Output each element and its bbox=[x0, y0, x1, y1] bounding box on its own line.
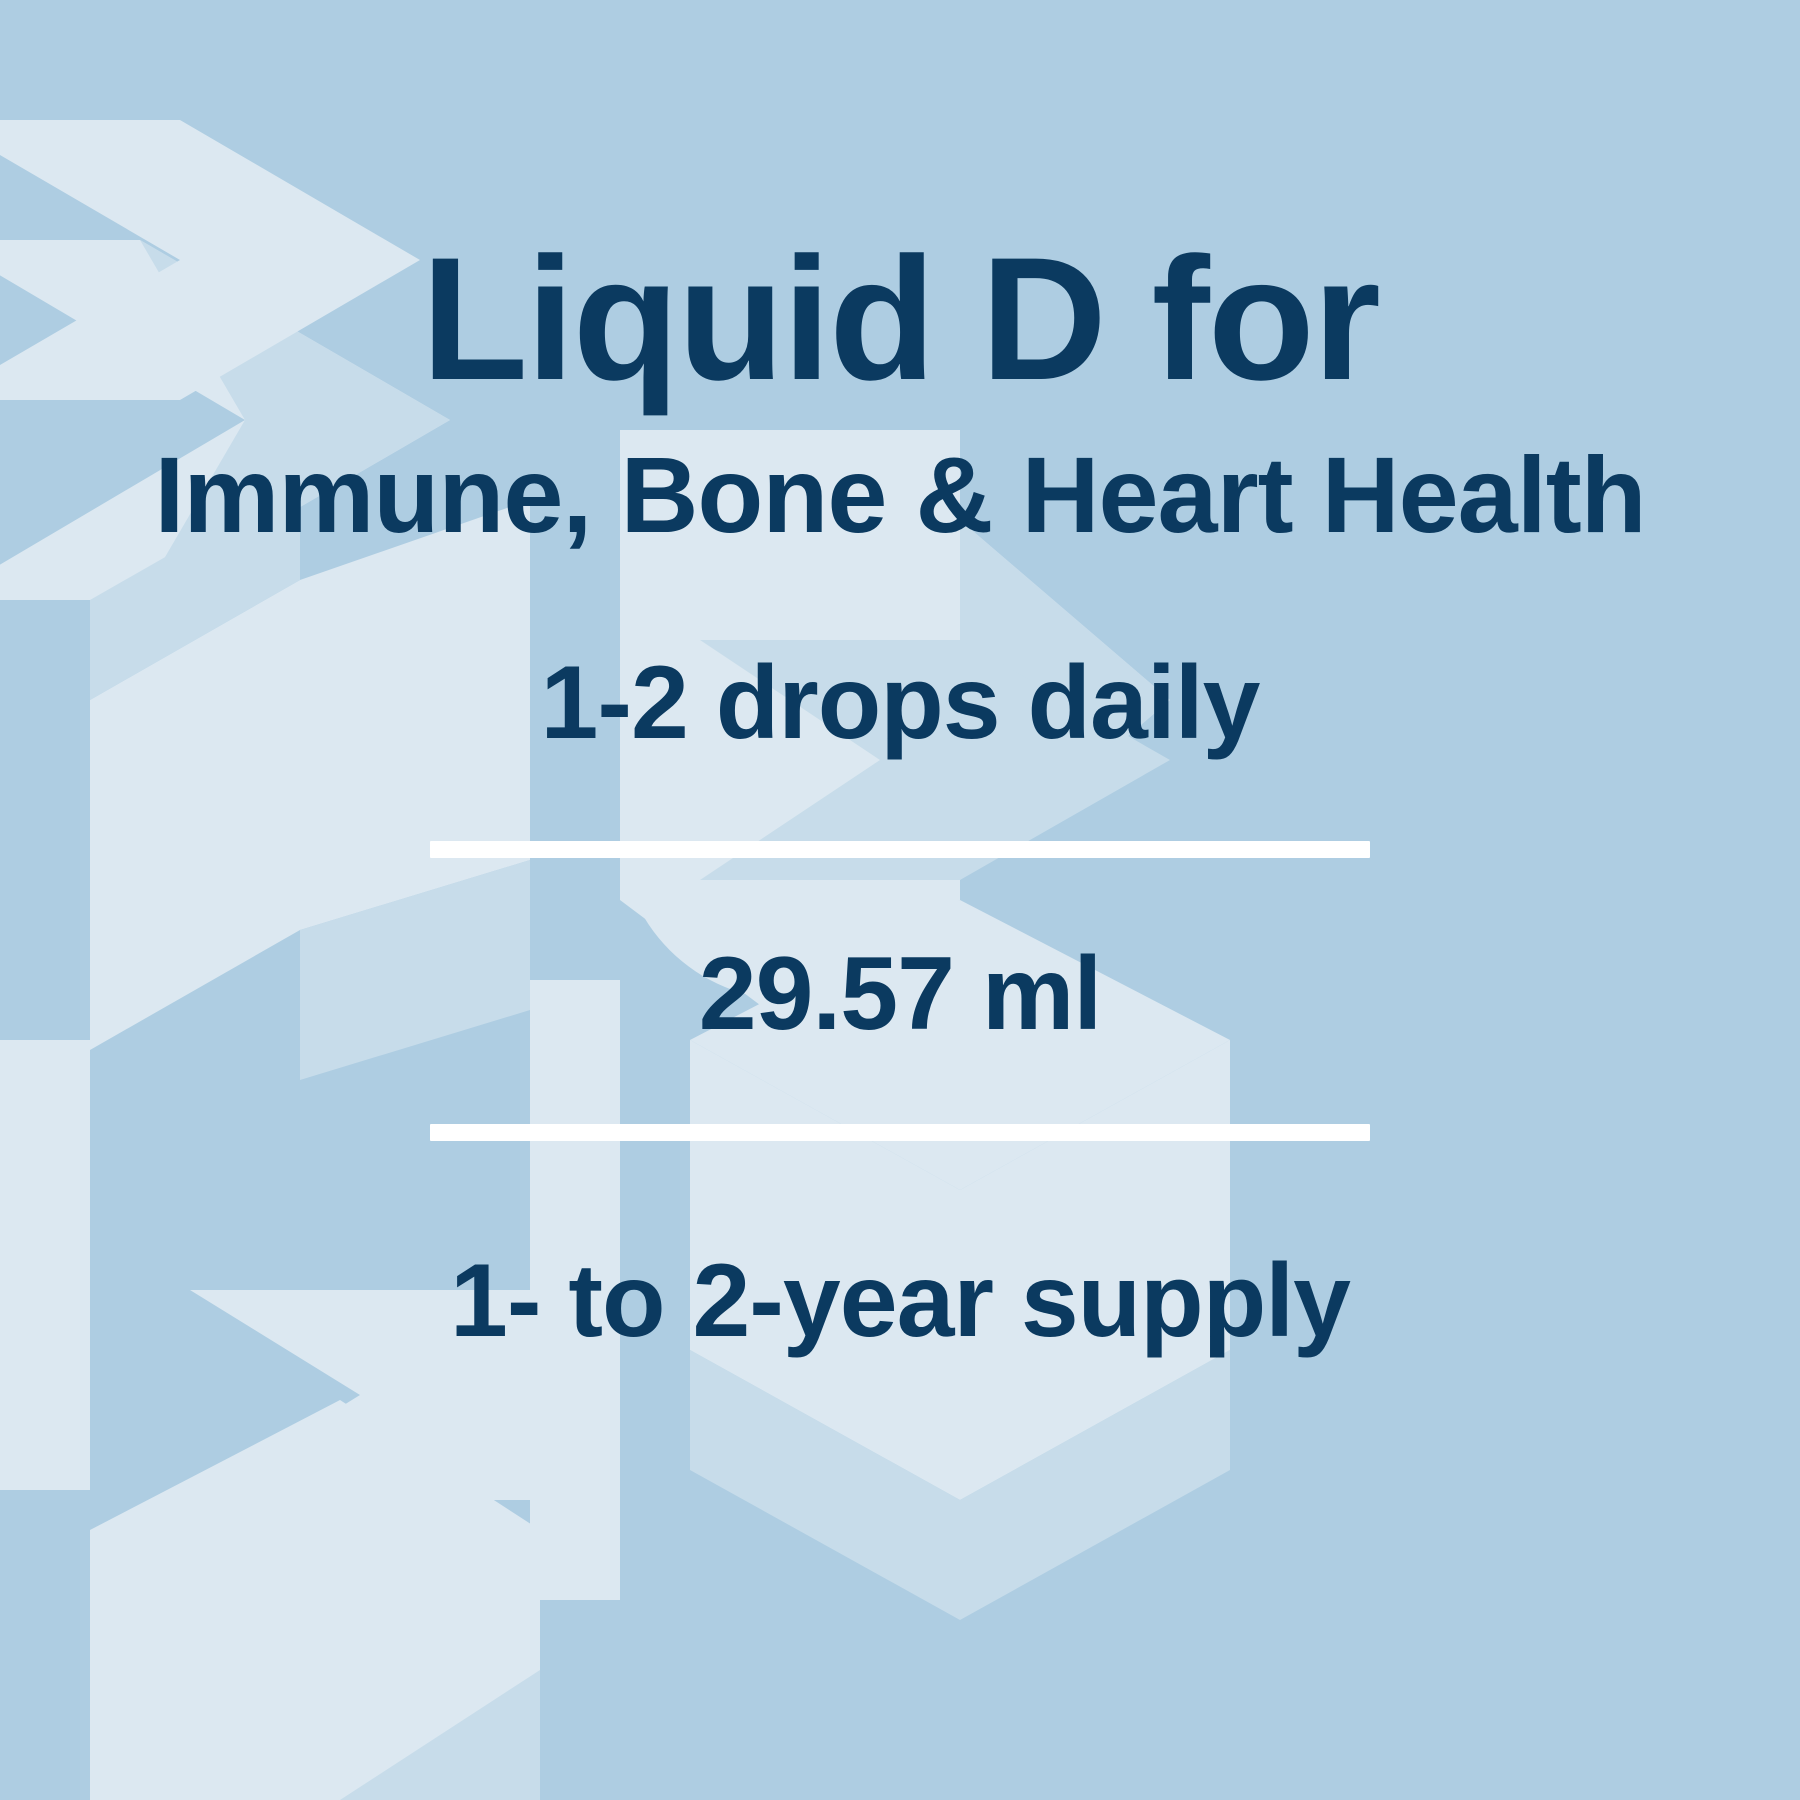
card-content: Liquid D for Immune, Bone & Heart Health… bbox=[0, 0, 1800, 1800]
page-subtitle: Immune, Bone & Heart Health bbox=[154, 441, 1645, 549]
dosage-text: 1-2 drops daily bbox=[541, 651, 1260, 755]
divider-bottom bbox=[430, 1124, 1370, 1141]
supply-duration-text: 1- to 2-year supply bbox=[450, 1249, 1350, 1353]
divider-top bbox=[430, 841, 1370, 858]
page-title: Liquid D for bbox=[421, 232, 1379, 407]
volume-text: 29.57 ml bbox=[699, 942, 1102, 1046]
product-info-card: Liquid D for Immune, Bone & Heart Health… bbox=[0, 0, 1800, 1800]
